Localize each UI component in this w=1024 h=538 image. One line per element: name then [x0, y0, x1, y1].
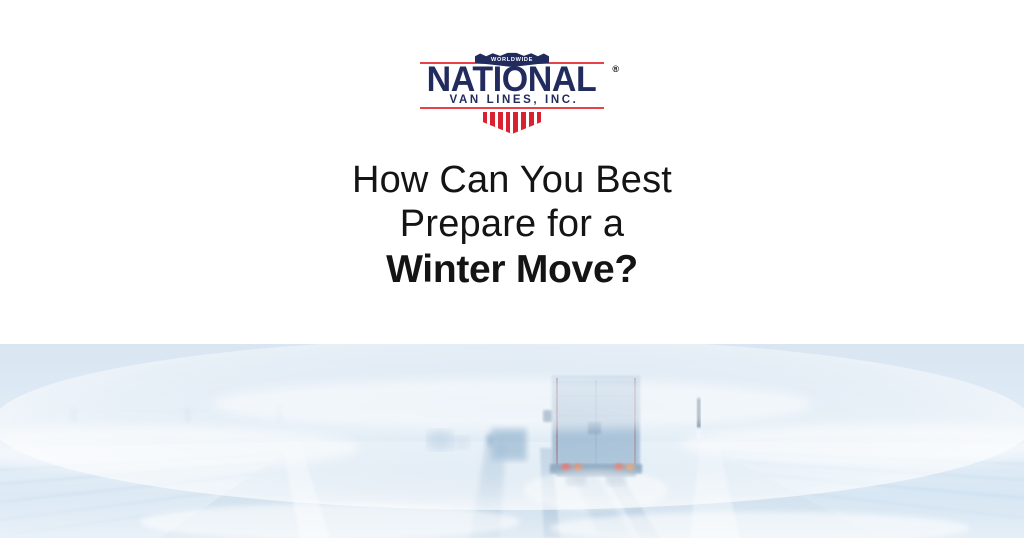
winter-highway-photo — [0, 344, 1024, 538]
national-van-lines-logo[interactable]: WORLDWIDE NATIONAL® VAN LINES, INC. — [414, 50, 610, 136]
headline-line-1: How Can You Best — [0, 158, 1024, 202]
logo-rule-bottom — [420, 107, 604, 109]
header-panel: WORLDWIDE NATIONAL® VAN LINES, INC. How … — [0, 0, 1024, 344]
page-title: How Can You Best Prepare for a Winter Mo… — [0, 158, 1024, 294]
headline-line-2: Prepare for a — [0, 202, 1024, 246]
winter-scene-illustration — [0, 344, 1024, 538]
logo-wordmark: NATIONAL — [427, 63, 597, 97]
logo-wordmark-row: NATIONAL® — [414, 63, 610, 97]
red-shield-icon — [483, 112, 541, 134]
headline-line-3: Winter Move? — [0, 246, 1024, 294]
logo-subtitle: VAN LINES, INC. — [414, 94, 612, 106]
registered-trademark-icon: ® — [612, 65, 619, 74]
winter-move-banner: WORLDWIDE NATIONAL® VAN LINES, INC. How … — [0, 0, 1024, 538]
shield-stripes — [483, 112, 541, 134]
